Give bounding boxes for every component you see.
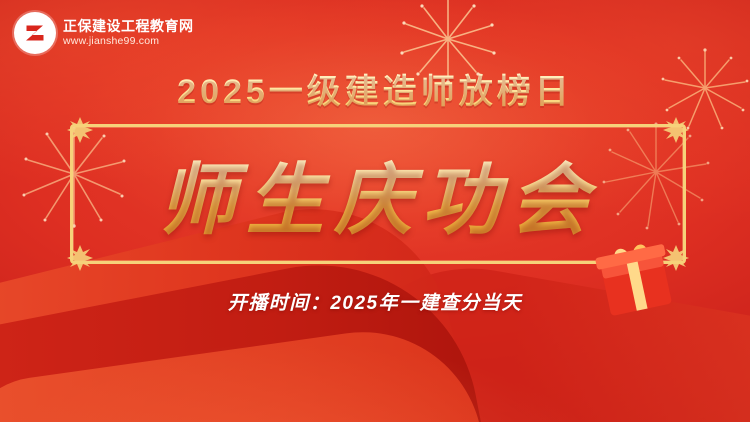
title-frame: 师生庆功会 [70, 124, 686, 264]
broadcast-time-text: 开播时间：2025年一建查分当天 [0, 288, 750, 315]
ribbon-swoosh-icon [312, 246, 750, 422]
headline-text: 2025一级建造师放榜日 [0, 64, 750, 113]
ribbon-swoosh-icon [0, 238, 502, 422]
brand-website: www.jianshe99.com [63, 36, 194, 48]
ornament-corner-icon [65, 115, 95, 145]
brand-name: 正保建设工程教育网 [63, 19, 194, 34]
main-title-text: 师生庆功会 [73, 138, 683, 250]
zhengbao-z-logo-icon [14, 12, 56, 54]
ribbon-swoosh-icon [0, 317, 490, 422]
brand-logo: 正保建设工程教育网 www.jianshe99.com [14, 12, 194, 54]
promo-banner: 正保建设工程教育网 www.jianshe99.com 2025一级建造师放榜日 [0, 0, 750, 422]
